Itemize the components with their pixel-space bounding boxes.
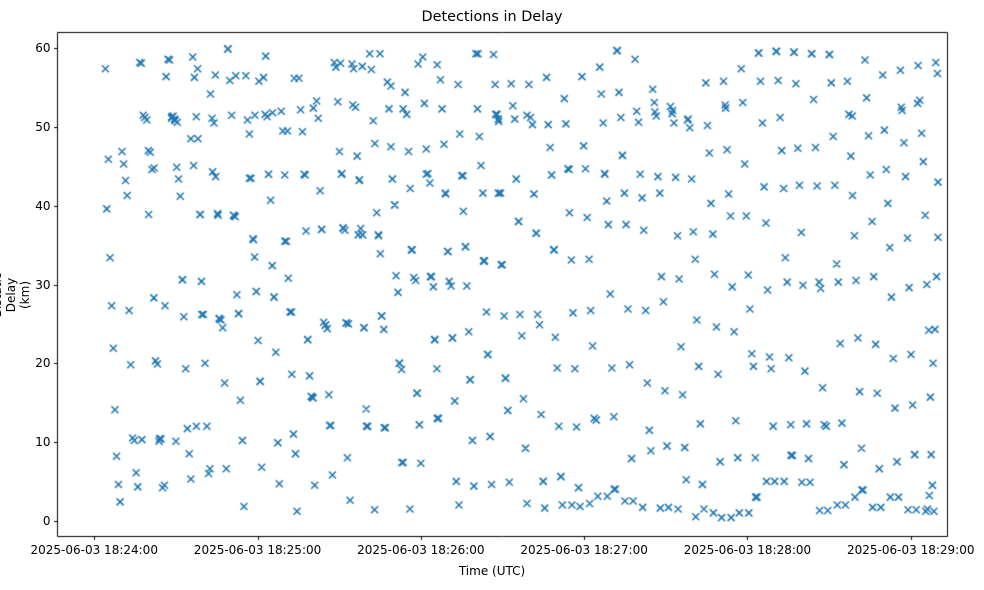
- y-axis-label-wrapper: Bistatic Delay (km): [0, 284, 306, 306]
- y-axis-label: Bistatic Delay (km): [0, 273, 32, 318]
- matplotlib-figure: Detections in Delay Time (UTC) Bistatic …: [0, 0, 984, 590]
